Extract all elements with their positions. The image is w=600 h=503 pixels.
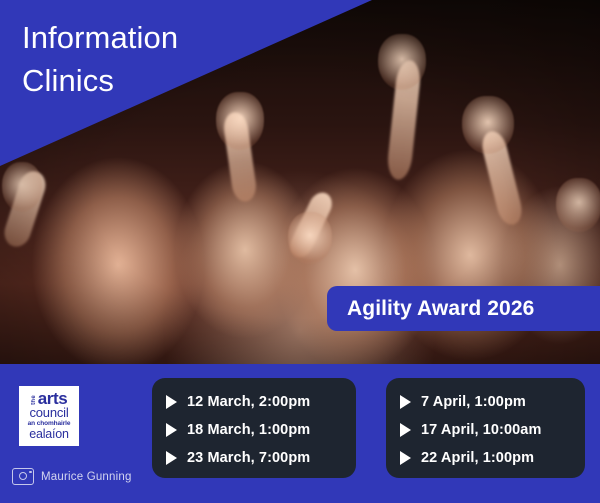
schedule-row[interactable]: 7 April, 1:00pm	[386, 389, 585, 415]
logo-the-text: the	[31, 395, 37, 405]
award-badge: Agility Award 2026	[327, 286, 600, 331]
logo-arts-row: the arts	[31, 391, 68, 406]
arts-council-logo: the arts council an chomhairle ealaíon	[19, 386, 79, 446]
schedule-column-march: 12 March, 2:00pm 18 March, 1:00pm 23 Mar…	[152, 378, 356, 478]
schedule-date-label: 12 March, 2:00pm	[187, 394, 310, 410]
schedule-row[interactable]: 17 April, 10:00am	[386, 417, 585, 443]
schedule-date-label: 23 March, 7:00pm	[187, 450, 310, 466]
play-triangle-icon	[166, 451, 177, 465]
play-triangle-icon	[400, 451, 411, 465]
schedule-row[interactable]: 18 March, 1:00pm	[152, 417, 356, 443]
award-badge-label: Agility Award 2026	[327, 297, 534, 321]
photo-credit: Maurice Gunning	[12, 468, 132, 485]
schedule-date-label: 18 March, 1:00pm	[187, 422, 310, 438]
play-triangle-icon	[400, 423, 411, 437]
schedule-date-label: 22 April, 1:00pm	[421, 450, 534, 466]
logo-council-text: council	[29, 406, 68, 420]
play-triangle-icon	[166, 395, 177, 409]
schedule-date-label: 7 April, 1:00pm	[421, 394, 526, 410]
schedule-date-label: 17 April, 10:00am	[421, 422, 541, 438]
information-clinics-poster: Information Clinics Agility Award 2026 t…	[0, 0, 600, 503]
logo-ealaion-text: ealaíon	[29, 428, 69, 441]
schedule-row[interactable]: 22 April, 1:00pm	[386, 445, 585, 471]
schedule-column-april: 7 April, 1:00pm 17 April, 10:00am 22 Apr…	[386, 378, 585, 478]
logo-arts-text: arts	[38, 391, 68, 406]
photographer-name: Maurice Gunning	[41, 471, 132, 483]
play-triangle-icon	[166, 423, 177, 437]
schedule-row[interactable]: 12 March, 2:00pm	[152, 389, 356, 415]
schedule-row[interactable]: 23 March, 7:00pm	[152, 445, 356, 471]
play-triangle-icon	[400, 395, 411, 409]
page-title: Information Clinics	[22, 17, 178, 103]
camera-icon	[12, 468, 34, 485]
